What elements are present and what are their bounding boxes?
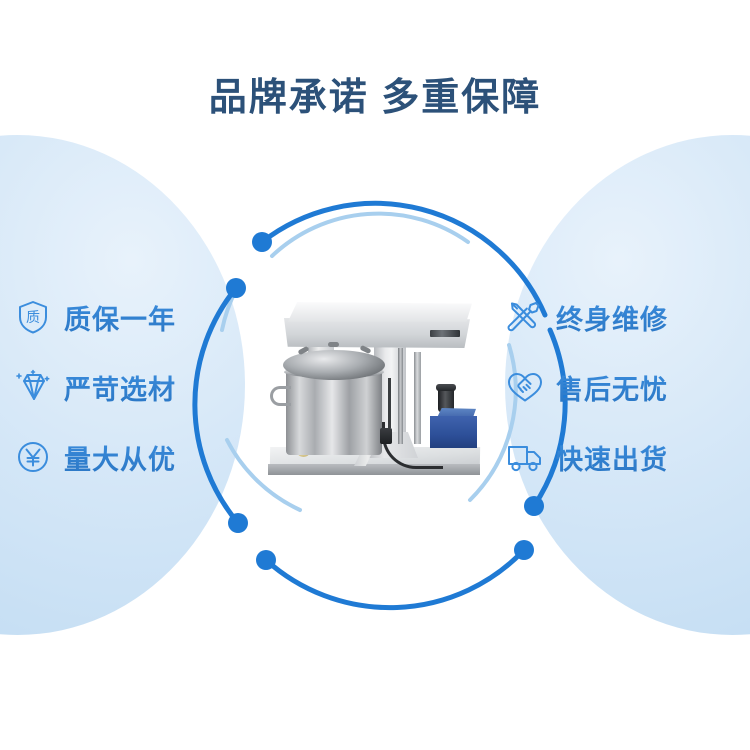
feature-list-right: 终身维修 售后无忧 [506,282,736,492]
machine-motor-cap [436,384,456,391]
product-photo [262,282,490,487]
machine-hood-vent [430,330,460,337]
ring-dot-lower-right [524,496,544,516]
machine-tank-body [286,370,382,455]
feature-label: 质保一年 [64,298,176,337]
feature-label: 快速出货 [556,438,668,477]
feature-item-bulk-discount[interactable]: 量大从优 [14,422,244,492]
feature-label: 终身维修 [556,298,668,337]
feature-label: 售后无忧 [556,368,668,407]
heart-handshake-icon [506,368,544,406]
feature-list-left: 质 质保一年 严苛选材 [14,282,244,492]
feature-label: 严苛选材 [64,368,176,407]
machine-control-box-face [430,416,477,448]
machine-tank-lid [283,350,385,380]
banner-canvas: 品牌承诺 多重保障 [0,0,750,750]
ring-dot-top-left [252,232,272,252]
feature-item-warranty[interactable]: 质 质保一年 [14,282,244,352]
yen-coin-icon [14,438,52,476]
machine-base-edge [268,464,480,475]
feature-item-after-sales[interactable]: 售后无忧 [506,352,736,422]
delivery-truck-icon [506,438,544,476]
ring-dot-bottom-left [256,550,276,570]
machine-tank-lug [328,342,339,347]
feature-item-fast-shipping[interactable]: 快速出货 [506,422,736,492]
ring-dot-bottom-right [514,540,534,560]
shield-glyph: 质 [26,309,40,325]
wrench-screwdriver-icon [506,298,544,336]
shield-quality-icon: 质 [14,298,52,336]
machine-cable-upper [388,378,391,428]
machine-tank-handle [270,386,291,406]
diamond-icon [14,368,52,406]
feature-label: 量大从优 [64,438,176,477]
feature-item-lifetime-repair[interactable]: 终身维修 [506,282,736,352]
feature-item-materials[interactable]: 严苛选材 [14,352,244,422]
ring-dot-lower-left [228,513,248,533]
machine-hood-top [282,302,472,322]
outer-arc-bottom [266,550,524,608]
machine-plug [380,428,392,444]
